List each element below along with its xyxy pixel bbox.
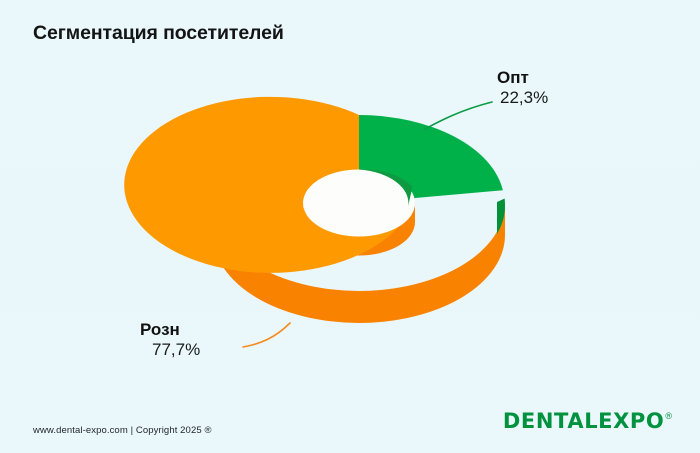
callout-rozn: Розн 77,7% (140, 320, 200, 359)
dentalexpo-logo-text: DENTALEXPO (503, 411, 664, 432)
dentalexpo-logo: DENTALEXPO ® (503, 411, 672, 432)
donut-top-faces (124, 97, 503, 273)
donut-chart-svg (0, 0, 700, 453)
leader-line-opt (425, 102, 492, 129)
registered-trademark-icon: ® (665, 412, 672, 421)
callout-opt: Опт 22,3% (497, 68, 548, 107)
callout-opt-name: Опт (497, 68, 548, 88)
footer-copyright: www.dental-expo.com | Copyright 2025 ® (33, 425, 212, 436)
leader-line-rozn (243, 323, 290, 347)
donut-chart (0, 0, 700, 453)
callout-rozn-name: Розн (140, 320, 200, 340)
callout-opt-value: 22,3% (497, 88, 548, 108)
callout-rozn-value: 77,7% (140, 340, 200, 360)
chart-page: Сегментация посетителей (0, 0, 700, 453)
